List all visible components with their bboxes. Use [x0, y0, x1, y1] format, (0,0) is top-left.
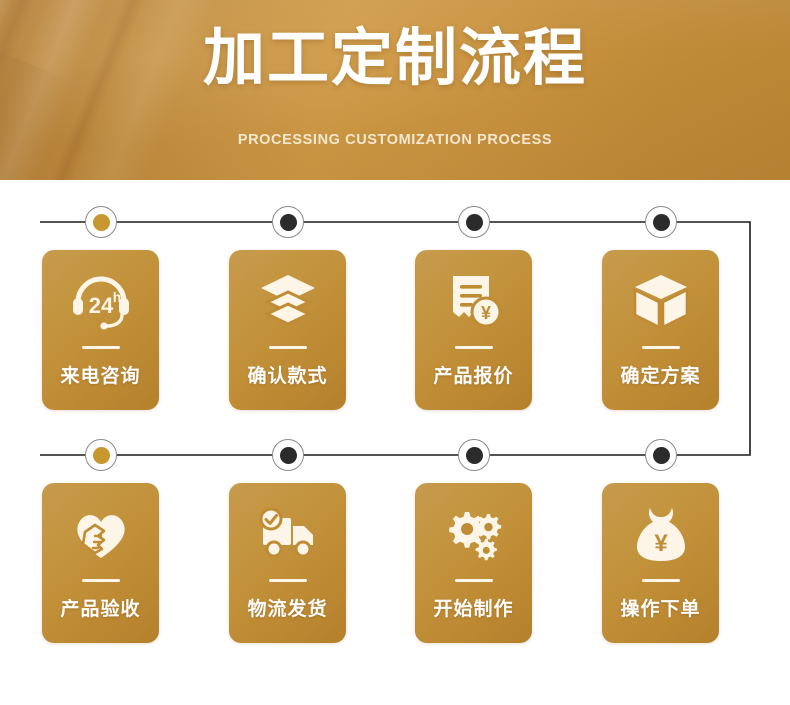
step-card-1[interactable]: 24 h 来电咨询 — [42, 250, 159, 410]
card-divider — [455, 579, 493, 582]
svg-text:24: 24 — [88, 293, 113, 318]
page-title: 加工定制流程 — [0, 26, 790, 91]
timeline-node-2[interactable] — [272, 206, 304, 238]
step-card-5[interactable]: 产品验收 — [42, 483, 159, 643]
step-card-3[interactable]: ¥ 产品报价 — [415, 250, 532, 410]
timeline-node-8[interactable] — [645, 439, 677, 471]
step-card-label: 物流发货 — [247, 594, 327, 621]
node-dot-icon — [280, 214, 297, 231]
step-card-label: 产品验收 — [60, 594, 140, 621]
step-card-7[interactable]: 开始制作 — [415, 483, 532, 643]
node-dot-icon — [653, 214, 670, 231]
card-divider — [82, 579, 120, 582]
step-card-label: 确定方案 — [620, 361, 700, 388]
node-dot-icon — [466, 447, 483, 464]
card-divider — [269, 579, 307, 582]
card-divider — [455, 346, 493, 349]
page-subtitle: PROCESSING CUSTOMIZATION PROCESS — [0, 132, 790, 148]
gears-icon — [444, 491, 504, 577]
process-flow: 24 h 来电咨询 确认款式 ¥ — [0, 180, 790, 705]
step-card-4[interactable]: 确定方案 — [602, 250, 719, 410]
page-banner: 加工定制流程 PROCESSING CUSTOMIZATION PROCESS — [0, 0, 790, 180]
headset-24h-icon: 24 h — [70, 258, 132, 344]
delivery-truck-check-icon — [257, 491, 319, 577]
svg-text:¥: ¥ — [654, 530, 668, 557]
timeline-node-6[interactable] — [272, 439, 304, 471]
step-card-label: 确认款式 — [247, 361, 327, 388]
node-dot-icon — [93, 447, 110, 464]
timeline-node-5[interactable] — [85, 439, 117, 471]
node-dot-icon — [280, 447, 297, 464]
step-card-2[interactable]: 确认款式 — [229, 250, 346, 410]
step-card-label: 产品报价 — [433, 361, 513, 388]
step-card-8[interactable]: ¥ 操作下单 — [602, 483, 719, 643]
node-dot-icon — [93, 214, 110, 231]
node-dot-icon — [466, 214, 483, 231]
money-bag-yuan-icon: ¥ — [633, 491, 689, 577]
card-divider — [642, 579, 680, 582]
svg-text:¥: ¥ — [480, 303, 490, 323]
timeline-node-7[interactable] — [458, 439, 490, 471]
node-dot-icon — [653, 447, 670, 464]
timeline-node-3[interactable] — [458, 206, 490, 238]
card-divider — [82, 346, 120, 349]
layers-stack-icon — [259, 258, 317, 344]
card-divider — [642, 346, 680, 349]
cube-box-icon — [632, 258, 690, 344]
step-card-label: 开始制作 — [433, 594, 513, 621]
timeline-node-1[interactable] — [85, 206, 117, 238]
invoice-yuan-icon: ¥ — [445, 258, 503, 344]
handshake-heart-icon — [71, 491, 131, 577]
step-card-6[interactable]: 物流发货 — [229, 483, 346, 643]
timeline-node-4[interactable] — [645, 206, 677, 238]
card-divider — [269, 346, 307, 349]
step-card-label: 来电咨询 — [60, 361, 140, 388]
step-card-label: 操作下单 — [620, 594, 700, 621]
svg-text:h: h — [112, 289, 121, 305]
